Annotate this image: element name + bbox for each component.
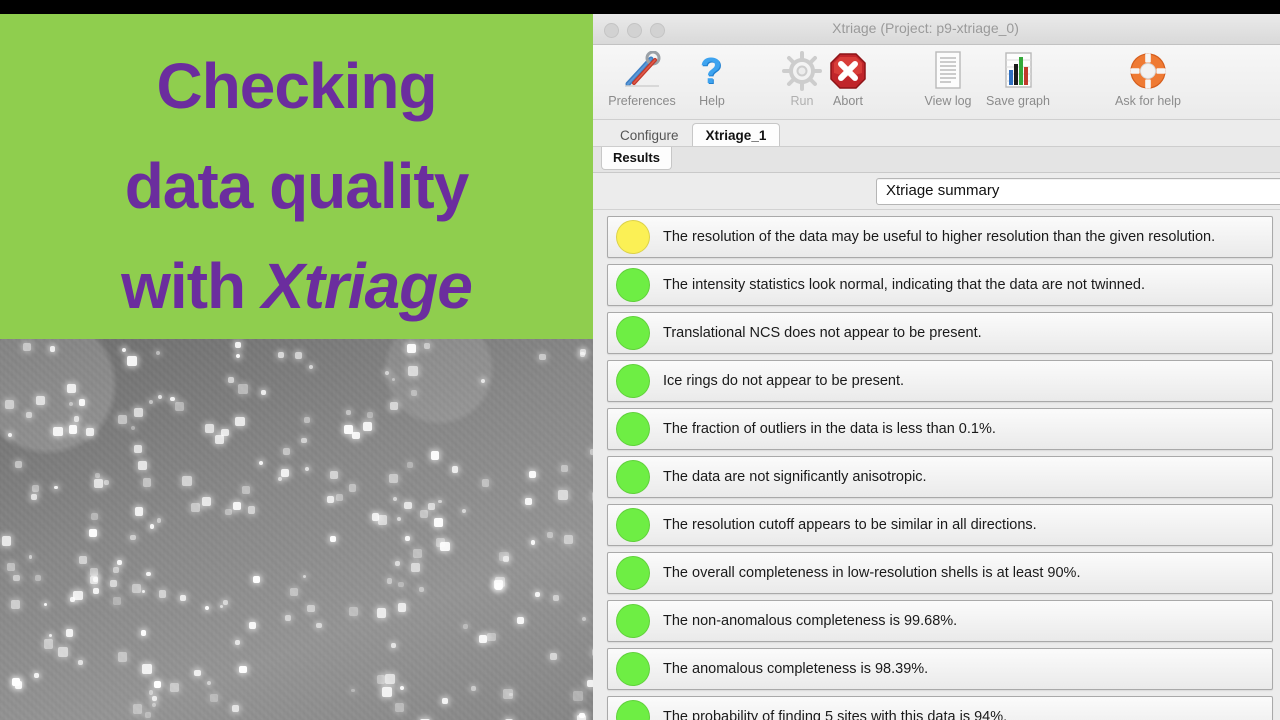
toolbar-label-ask-for-help: Ask for help <box>1105 94 1191 108</box>
diffraction-spot <box>553 595 559 601</box>
diffraction-spot <box>2 536 11 545</box>
diffraction-spot <box>118 652 128 662</box>
diffraction-spot <box>138 461 147 470</box>
diffraction-spot <box>79 556 88 565</box>
diffraction-spot <box>232 705 239 712</box>
diffraction-spot <box>494 580 503 589</box>
status-indicator-warning <box>616 220 650 254</box>
result-text: The resolution cutoff appears to be simi… <box>663 517 1037 533</box>
diffraction-spot <box>452 466 459 473</box>
tab-configure[interactable]: Configure <box>607 124 692 148</box>
diffraction-spot <box>44 639 53 648</box>
diffraction-spot <box>235 342 242 349</box>
diffraction-image <box>0 339 593 720</box>
diffraction-spot <box>73 591 83 601</box>
diffraction-spot <box>113 567 119 573</box>
summary-select[interactable]: Xtriage summary <box>876 178 1280 205</box>
screenshot-root: Checking data quality with Xtriage Xtria… <box>0 0 1280 720</box>
diffraction-spot <box>134 445 142 453</box>
status-indicator-ok <box>616 268 650 302</box>
result-text: The intensity statistics look normal, in… <box>663 277 1145 293</box>
result-text: The probability of finding 5 sites with … <box>663 709 1007 720</box>
diffraction-spot <box>154 681 161 688</box>
diffraction-spots <box>0 339 593 720</box>
status-indicator-ok <box>616 508 650 542</box>
diffraction-spot <box>428 503 434 509</box>
diffraction-spot <box>330 536 336 542</box>
diffraction-spot <box>182 476 192 486</box>
result-row[interactable]: Translational NCS does not appear to be … <box>607 312 1273 354</box>
result-row[interactable]: Ice rings do not appear to be present. <box>607 360 1273 402</box>
diffraction-spot <box>53 427 63 437</box>
diffraction-spot <box>290 588 298 596</box>
diffraction-spot <box>93 588 98 593</box>
diffraction-spot <box>180 595 186 601</box>
diffraction-spot <box>142 590 145 593</box>
result-row[interactable]: The probability of finding 5 sites with … <box>607 696 1273 720</box>
diffraction-spot <box>146 572 150 576</box>
slide-title-panel: Checking data quality with Xtriage <box>0 14 593 339</box>
result-text: The overall completeness in low-resoluti… <box>663 565 1080 581</box>
diffraction-spot <box>398 603 407 612</box>
diffraction-spot <box>49 634 53 638</box>
diffraction-spot <box>285 615 291 621</box>
tab-xtriage-1[interactable]: Xtriage_1 <box>692 123 781 148</box>
diffraction-spot <box>253 576 260 583</box>
result-row[interactable]: The anomalous completeness is 98.39%. <box>607 648 1273 690</box>
diffraction-spot <box>221 429 229 437</box>
title-line-2: data quality <box>0 136 593 236</box>
diffraction-spot <box>36 396 45 405</box>
diffraction-spot <box>307 605 315 613</box>
diffraction-spot <box>278 352 284 358</box>
diffraction-spot <box>367 412 373 418</box>
diffraction-spot <box>11 600 20 609</box>
diffraction-spot <box>389 474 398 483</box>
results-list: The resolution of the data may be useful… <box>593 210 1280 720</box>
diffraction-spot <box>158 395 162 399</box>
diffraction-spot <box>482 479 489 486</box>
diffraction-spot <box>94 479 103 488</box>
diffraction-spot <box>150 524 154 528</box>
diffraction-spot <box>191 503 200 512</box>
diffraction-spot <box>309 365 313 369</box>
result-text: Translational NCS does not appear to be … <box>663 325 982 341</box>
diffraction-spot <box>248 506 255 513</box>
diffraction-spot <box>283 448 290 455</box>
diffraction-spot <box>130 535 136 541</box>
diffraction-spot <box>400 686 404 690</box>
diffraction-spot <box>434 518 443 527</box>
diffraction-spot <box>69 402 73 406</box>
result-row[interactable]: The overall completeness in low-resoluti… <box>607 552 1273 594</box>
tab-results[interactable]: Results <box>601 147 672 170</box>
diffraction-spot <box>210 694 218 702</box>
diffraction-spot <box>220 605 224 609</box>
diffraction-spot <box>377 608 387 618</box>
diffraction-spot <box>424 343 430 349</box>
status-indicator-ok <box>616 364 650 398</box>
diffraction-spot <box>404 502 412 510</box>
page-title: Checking data quality with Xtriage <box>0 36 593 336</box>
diffraction-spot <box>344 425 353 434</box>
diffraction-spot <box>156 351 160 355</box>
diffraction-spot <box>12 678 20 686</box>
diffraction-spot <box>13 575 20 582</box>
question-mark-icon: ? ? <box>669 49 755 93</box>
diffraction-spot <box>132 584 142 594</box>
diffraction-spot <box>539 354 545 360</box>
diffraction-spot <box>261 390 266 395</box>
diffraction-spot <box>547 532 553 538</box>
diffraction-spot <box>157 518 161 522</box>
diffraction-spot <box>239 666 246 673</box>
status-indicator-ok <box>616 316 650 350</box>
diffraction-spot <box>35 575 42 582</box>
diffraction-spot <box>395 703 403 711</box>
status-indicator-ok <box>616 556 650 590</box>
diffraction-spot <box>558 490 568 500</box>
diffraction-spot <box>215 435 224 444</box>
diffraction-spot <box>431 451 440 460</box>
result-text: The fraction of outliers in the data is … <box>663 421 996 437</box>
diffraction-spot <box>387 578 393 584</box>
diffraction-spot <box>89 529 97 537</box>
diffraction-spot <box>327 496 334 503</box>
window-titlebar: Xtriage (Project: p9-xtriage_0) <box>593 14 1280 45</box>
diffraction-spot <box>564 535 572 543</box>
diffraction-spot <box>517 617 524 624</box>
diffraction-spot <box>397 517 401 521</box>
diffraction-spot <box>54 486 58 490</box>
diffraction-spot <box>95 473 100 478</box>
diffraction-spot <box>503 689 513 699</box>
diffraction-spot <box>131 426 135 430</box>
result-row[interactable]: The fraction of outliers in the data is … <box>607 408 1273 450</box>
diffraction-spot <box>385 674 395 684</box>
diffraction-spot <box>336 494 343 501</box>
diffraction-spot <box>349 607 358 616</box>
diffraction-spot <box>26 412 32 418</box>
diffraction-spot <box>205 606 209 610</box>
result-text: The resolution of the data may be useful… <box>663 229 1215 245</box>
diffraction-spot <box>525 498 532 505</box>
result-row[interactable]: The resolution cutoff appears to be simi… <box>607 504 1273 546</box>
diffraction-spot <box>398 582 403 587</box>
diffraction-spot <box>170 397 174 401</box>
result-row[interactable]: The data are not significantly anisotrop… <box>607 456 1273 498</box>
diffraction-spot <box>90 576 98 584</box>
diffraction-spot <box>170 683 179 692</box>
diffraction-spot <box>32 485 39 492</box>
bar-chart-icon <box>975 49 1061 93</box>
title-line-3-prefix: with <box>121 250 262 322</box>
diffraction-spot <box>44 603 47 606</box>
diffraction-spot <box>385 371 389 375</box>
diffraction-spot <box>471 686 476 691</box>
diffraction-spot <box>346 410 351 415</box>
diffraction-spot <box>50 346 56 352</box>
diffraction-spot <box>531 540 535 544</box>
diffraction-spot <box>86 428 94 436</box>
status-indicator-ok <box>616 604 650 638</box>
diffraction-spot <box>194 670 200 676</box>
diffraction-spot <box>377 675 386 684</box>
diffraction-spot <box>391 643 396 648</box>
diffraction-spot <box>149 690 154 695</box>
diffraction-spot <box>436 538 445 547</box>
result-text: The data are not significantly anisotrop… <box>663 469 927 485</box>
diffraction-spot <box>235 640 240 645</box>
diffraction-spot <box>127 356 137 366</box>
toolbar-button-help[interactable]: ? ? Help <box>669 49 755 108</box>
diffraction-spot <box>149 400 153 404</box>
diffraction-spot <box>175 402 183 410</box>
diffraction-spot <box>236 354 240 358</box>
diffraction-spot <box>529 471 536 478</box>
diffraction-spot <box>223 600 228 605</box>
diffraction-spot <box>351 689 355 693</box>
diffraction-spot <box>561 465 568 472</box>
diffraction-spot <box>305 467 309 471</box>
life-ring-icon <box>1105 49 1191 93</box>
diffraction-spot <box>405 536 410 541</box>
diffraction-spot <box>303 575 306 578</box>
status-indicator-ok <box>616 460 650 494</box>
diffraction-spot <box>78 660 83 665</box>
diffraction-spot <box>479 635 487 643</box>
result-text: Ice rings do not appear to be present. <box>663 373 904 389</box>
diffraction-spot <box>5 400 14 409</box>
diffraction-spot <box>363 422 372 431</box>
presentation-slide: Checking data quality with Xtriage <box>0 14 593 720</box>
diffraction-spot <box>411 563 420 572</box>
diffraction-spot <box>141 630 146 635</box>
diffraction-spot <box>202 497 211 506</box>
diffraction-spot <box>550 653 557 660</box>
diffraction-spot <box>143 478 152 487</box>
diffraction-spot <box>304 417 310 423</box>
diffraction-spot <box>8 433 12 437</box>
diffraction-spot <box>135 507 144 516</box>
status-indicator-ok <box>616 652 650 686</box>
diffraction-spot <box>378 515 388 525</box>
diffraction-spot <box>58 647 68 657</box>
diffraction-spot <box>352 432 359 439</box>
diffraction-spot <box>462 509 466 513</box>
status-indicator-ok <box>616 700 650 720</box>
toolbar-label-abort: Abort <box>805 94 891 108</box>
diffraction-spot <box>79 399 86 406</box>
diffraction-spot <box>411 390 417 396</box>
diffraction-spot <box>122 348 126 352</box>
diffraction-spot <box>438 500 441 503</box>
diffraction-spot <box>238 384 248 394</box>
diffraction-spot <box>7 563 14 570</box>
diffraction-spot <box>91 513 99 521</box>
diffraction-spot <box>159 590 166 597</box>
diffraction-spot <box>152 703 156 707</box>
diffraction-spot <box>419 587 424 592</box>
diffraction-spot <box>152 696 157 701</box>
diffraction-spot <box>407 462 413 468</box>
diffraction-spot <box>23 343 31 351</box>
diffraction-spot <box>503 556 509 562</box>
diffraction-spot <box>573 691 583 701</box>
diffraction-spot <box>487 633 496 642</box>
diffraction-spot <box>242 486 250 494</box>
status-indicator-ok <box>616 412 650 446</box>
diffraction-spot <box>349 484 357 492</box>
stop-x-icon <box>805 49 891 93</box>
diffraction-spot <box>145 712 151 718</box>
diffraction-spot <box>228 377 234 383</box>
summary-select-value: Xtriage summary <box>886 182 999 199</box>
title-app-name: Xtriage <box>262 250 472 322</box>
diffraction-spot <box>225 509 231 515</box>
diffraction-spot <box>31 494 36 499</box>
toolbar-button-abort[interactable]: Abort <box>805 49 891 108</box>
diffraction-spot <box>205 424 214 433</box>
diffraction-spot <box>393 497 397 501</box>
title-line-1: Checking <box>0 36 593 136</box>
diffraction-spot <box>118 415 127 424</box>
diffraction-spot <box>259 461 263 465</box>
diffraction-spot <box>142 664 151 673</box>
diffraction-spot <box>281 469 289 477</box>
diffraction-spot <box>392 378 395 381</box>
diffraction-spot <box>249 622 256 629</box>
diffraction-spot <box>390 402 398 410</box>
diffraction-spot <box>235 417 245 427</box>
xtriage-window: Xtriage (Project: p9-xtriage_0) Preferen… <box>593 14 1280 720</box>
diffraction-spot <box>407 344 416 353</box>
diffraction-spot <box>69 425 78 434</box>
diffraction-spot <box>316 623 322 629</box>
diffraction-spot <box>74 416 79 421</box>
diffraction-spot <box>580 349 586 355</box>
result-text: The non-anomalous completeness is 99.68%… <box>663 613 957 629</box>
toolbar-label-save-graph: Save graph <box>975 94 1061 108</box>
diffraction-spot <box>442 698 448 704</box>
svg-text:?: ? <box>700 51 722 91</box>
diffraction-spot <box>110 580 117 587</box>
diffraction-spot <box>207 681 211 685</box>
diffraction-spot <box>90 568 98 576</box>
diffraction-spot <box>408 366 418 376</box>
diffraction-spot <box>420 510 428 518</box>
diffraction-spot <box>413 549 422 558</box>
diffraction-spot <box>463 624 468 629</box>
diffraction-spot <box>134 408 143 417</box>
selector-row: Xtriage summary <box>593 173 1280 210</box>
toolbar-label-help: Help <box>669 94 755 108</box>
diffraction-spot <box>133 704 142 713</box>
diffraction-spot <box>382 687 392 697</box>
diffraction-spot <box>295 352 302 359</box>
diffraction-spot <box>34 673 38 677</box>
diffraction-spot <box>395 561 400 566</box>
diffraction-spot <box>117 560 122 565</box>
window-title: Xtriage (Project: p9-xtriage_0) <box>593 20 1258 36</box>
diffraction-spot <box>481 379 485 383</box>
toolbar-button-save-graph[interactable]: Save graph <box>975 49 1061 108</box>
secondary-tab-bar: Results <box>593 146 1280 173</box>
toolbar: Preferences ? ? Help <box>593 45 1280 120</box>
result-row[interactable]: The intensity statistics look normal, in… <box>607 264 1273 306</box>
diffraction-spot <box>104 480 108 484</box>
result-row[interactable]: The resolution of the data may be useful… <box>607 216 1273 258</box>
toolbar-button-ask-for-help[interactable]: Ask for help <box>1105 49 1191 108</box>
diffraction-spot <box>67 384 76 393</box>
diffraction-spot <box>15 461 22 468</box>
diffraction-spot <box>577 715 586 720</box>
diffraction-spot <box>301 438 306 443</box>
diffraction-spot <box>330 471 338 479</box>
result-row[interactable]: The non-anomalous completeness is 99.68%… <box>607 600 1273 642</box>
diffraction-spot <box>66 629 73 636</box>
diffraction-spot <box>233 502 240 509</box>
result-text: The anomalous completeness is 98.39%. <box>663 661 928 677</box>
diffraction-spot <box>113 597 121 605</box>
primary-tab-bar: ConfigureXtriage_1 <box>593 120 1280 146</box>
diffraction-spot <box>535 592 540 597</box>
diffraction-spot <box>582 617 586 621</box>
diffraction-spot <box>278 477 282 481</box>
diffraction-spot <box>29 555 33 559</box>
title-line-3: with Xtriage <box>0 236 593 336</box>
